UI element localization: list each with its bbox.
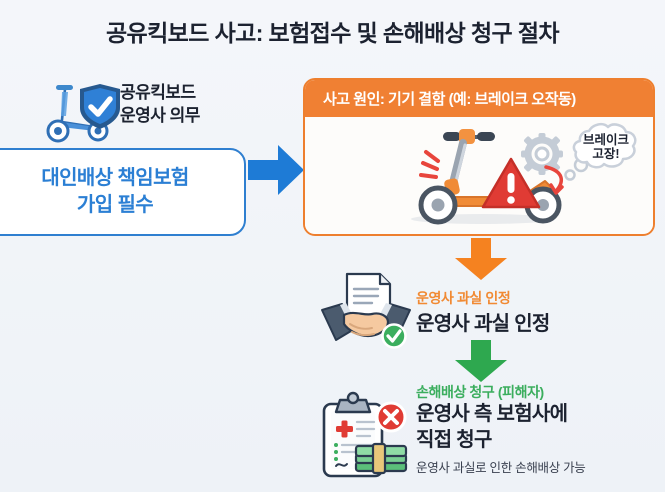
claim-step-note: 운영사 과실로 인한 손해배상 가능 <box>416 457 586 476</box>
accident-cause-body: 브레이크 고장! <box>305 117 653 233</box>
claim-step-title-line2: 직접 청구 <box>416 427 661 453</box>
operator-obligation-line2: 운영사 의무 <box>120 105 270 128</box>
insurance-line-1: 대인배상 책임보험 <box>41 165 188 192</box>
claim-step-kicker: 손해배상 청구 (피해자) <box>416 382 544 402</box>
operator-obligation-label: 공유킥보드 운영사 의무 <box>120 82 270 127</box>
handshake-document-check-icon <box>320 272 412 350</box>
infographic-canvas: 공유킥보드 사고: 보험접수 및 손해배상 청구 절차 공유킥보드 운영사 의무 <box>0 0 665 492</box>
page-title: 공유킥보드 사고: 보험접수 및 손해배상 청구 절차 <box>0 14 665 48</box>
accident-cause-card: 사고 원인: 기기 결함 (예: 브레이크 오작동) <box>303 78 655 236</box>
speech-bubble-line2: 고장! <box>592 146 619 161</box>
broken-scooter-icon: 브레이크 고장! <box>393 119 648 231</box>
speech-bubble-line1: 브레이크 <box>583 132 630 147</box>
accident-cause-header: 사고 원인: 기기 결함 (예: 브레이크 오작동) <box>305 80 653 117</box>
claim-step-title: 운영사 측 보험사에 직접 청구 <box>416 401 661 453</box>
insurance-requirement-box: 대인배상 책임보험 가입 필수 <box>0 148 246 236</box>
fault-step-title: 운영사 과실 인정 <box>416 307 550 336</box>
accident-cause-header-text: 사고 원인: 기기 결함 (예: 브레이크 오작동) <box>323 88 576 109</box>
claim-step-title-line1: 운영사 측 보험사에 <box>416 401 661 427</box>
medical-clipboard-money-icon <box>312 390 410 482</box>
insurance-line-2: 가입 필수 <box>77 192 153 219</box>
operator-obligation-line1: 공유킥보드 <box>120 82 270 105</box>
fault-step-kicker: 운영사 과실 인정 <box>416 288 510 308</box>
scooter-shield-icon <box>38 76 126 144</box>
orange-down-arrow-icon <box>455 238 507 280</box>
green-down-arrow-icon <box>455 340 507 382</box>
blue-right-arrow-icon <box>248 141 304 199</box>
